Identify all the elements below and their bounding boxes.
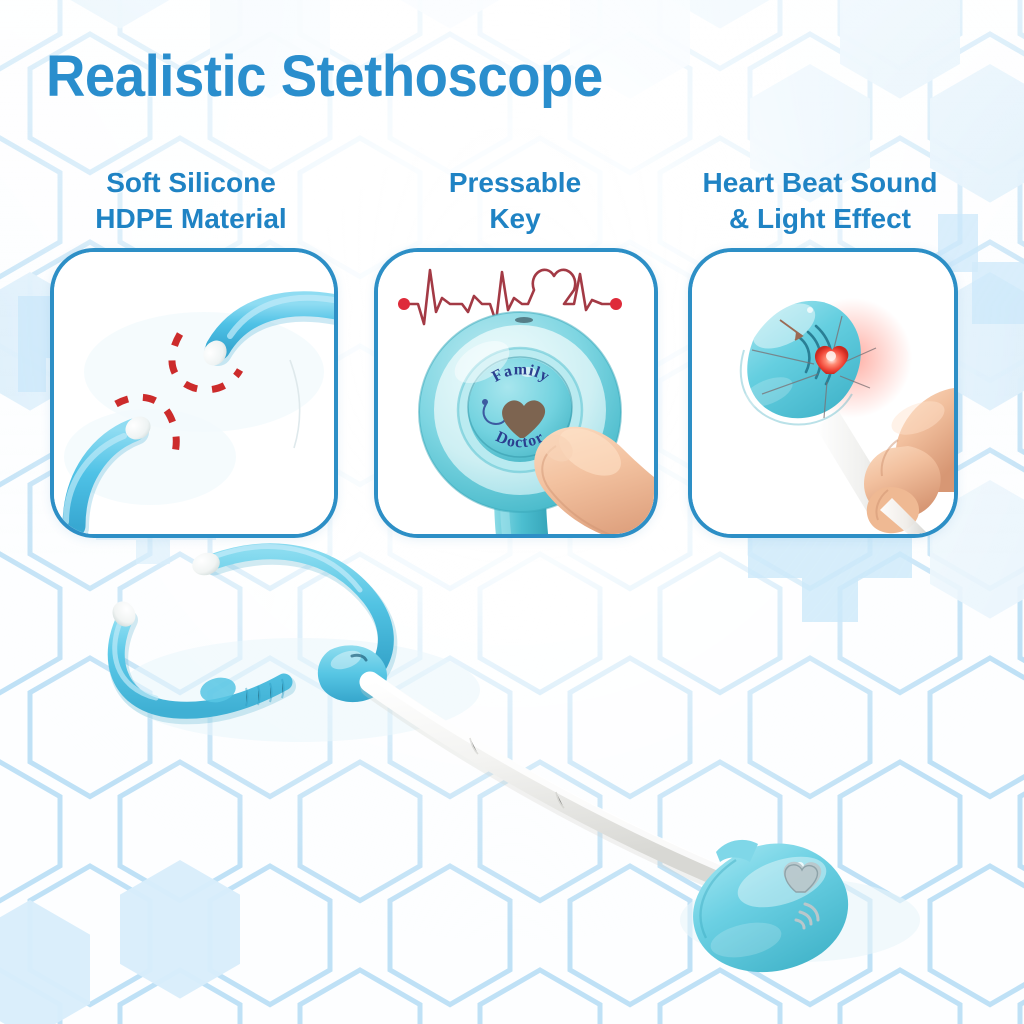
- feature-caption-soft-silicone: Soft Silicone HDPE Material: [36, 165, 346, 237]
- caption-line-2: & Light Effect: [665, 201, 975, 237]
- panel-heart-beat-sound[interactable]: [688, 248, 958, 538]
- caption-line-1: Pressable: [449, 167, 581, 198]
- panel-soft-silicone[interactable]: [50, 248, 338, 538]
- caption-line-2: HDPE Material: [36, 201, 346, 237]
- feature-caption-heart-beat-sound: Heart Beat Sound & Light Effect: [665, 165, 975, 237]
- soft-silicone-illustration: [54, 252, 334, 534]
- caption-line-1: Heart Beat Sound: [703, 167, 938, 198]
- heart-beat-sound-illustration: [692, 252, 954, 534]
- feature-caption-pressable-key: Pressable Key: [380, 165, 650, 237]
- caption-line-1: Soft Silicone: [106, 167, 276, 198]
- pressable-key-illustration: Family Doctor: [378, 252, 654, 534]
- stethoscope-product-image: [0, 500, 1024, 1024]
- caption-line-2: Key: [380, 201, 650, 237]
- panel-pressable-key[interactable]: Family Doctor: [374, 248, 658, 538]
- page-title: Realistic Stethoscope: [46, 46, 603, 108]
- infographic-canvas: Realistic Stethoscope Soft Silicone HDPE…: [0, 0, 1024, 1024]
